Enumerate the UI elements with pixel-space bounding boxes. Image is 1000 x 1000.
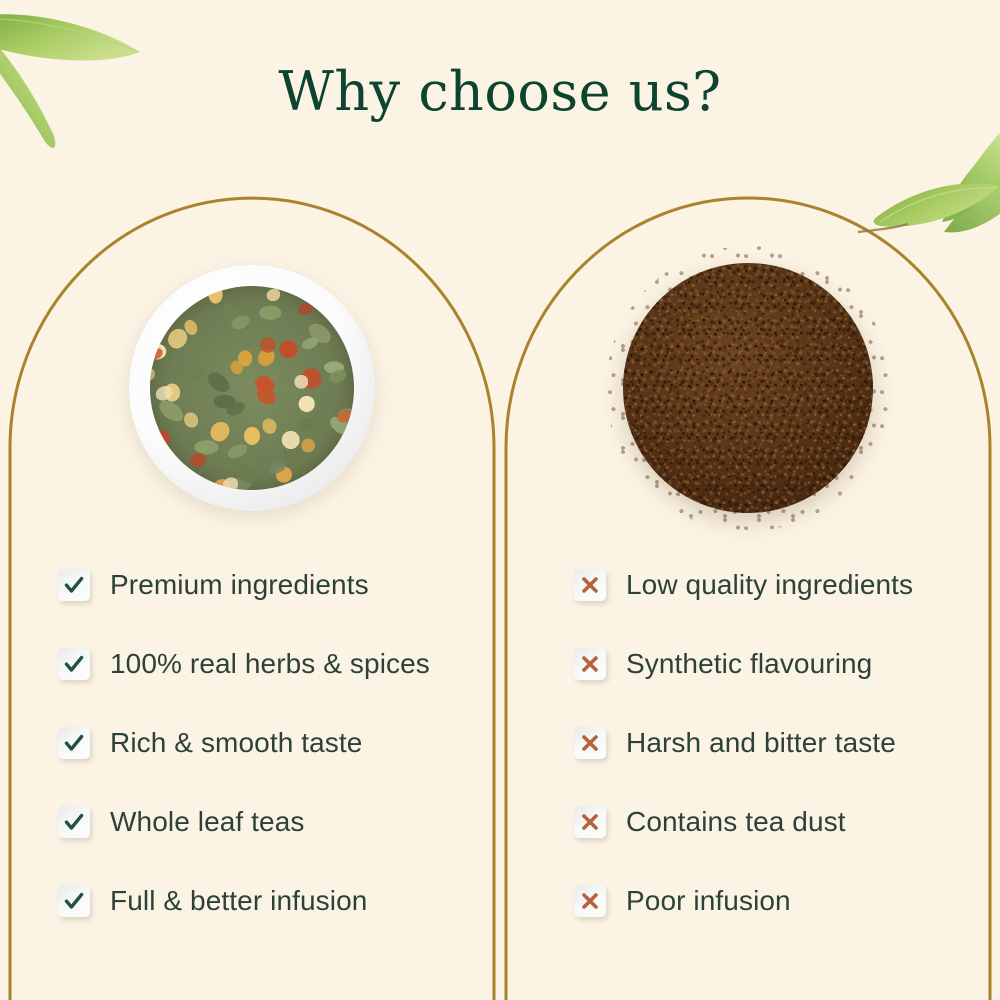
page-title: Why choose us? — [0, 60, 1000, 123]
cross-icon — [574, 806, 606, 838]
list-item-label: Harsh and bitter taste — [626, 727, 896, 759]
check-icon — [58, 648, 90, 680]
cross-icon — [574, 648, 606, 680]
list-item: Contains tea dust — [506, 782, 990, 861]
list-item: Synthetic flavouring — [506, 624, 990, 703]
pros-image — [10, 255, 494, 545]
cons-image — [506, 255, 990, 545]
cross-icon — [574, 569, 606, 601]
why-choose-us-panel: Why choose us? — [0, 0, 1000, 1000]
check-icon — [58, 569, 90, 601]
list-item-label: Synthetic flavouring — [626, 648, 872, 680]
tea-dust-pile-image — [623, 263, 873, 513]
list-item: 100% real herbs & spices — [10, 624, 494, 703]
list-item: Low quality ingredients — [506, 545, 990, 624]
list-item-label: Whole leaf teas — [110, 806, 305, 838]
list-item: Whole leaf teas — [10, 782, 494, 861]
list-item: Rich & smooth taste — [10, 703, 494, 782]
check-icon — [58, 885, 90, 917]
list-item-label: Poor infusion — [626, 885, 791, 917]
column-pros: Premium ingredients 100% real herbs & sp… — [10, 200, 494, 1000]
list-item: Poor infusion — [506, 861, 990, 940]
list-item: Full & better infusion — [10, 861, 494, 940]
cross-icon — [574, 885, 606, 917]
herbal-tea-bowl-image — [129, 265, 375, 511]
list-item: Premium ingredients — [10, 545, 494, 624]
cons-list: Low quality ingredients Synthetic flavou… — [506, 545, 990, 940]
check-icon — [58, 727, 90, 759]
bowl-contents — [150, 286, 354, 490]
pros-list: Premium ingredients 100% real herbs & sp… — [10, 545, 494, 940]
list-item-label: Rich & smooth taste — [110, 727, 362, 759]
list-item: Harsh and bitter taste — [506, 703, 990, 782]
column-cons: Low quality ingredients Synthetic flavou… — [506, 200, 990, 1000]
list-item-label: Full & better infusion — [110, 885, 367, 917]
check-icon — [58, 806, 90, 838]
list-item-label: Contains tea dust — [626, 806, 846, 838]
cross-icon — [574, 727, 606, 759]
tea-dust-scatter — [606, 246, 891, 531]
list-item-label: Premium ingredients — [110, 569, 369, 601]
herb-texture-c — [150, 286, 354, 490]
list-item-label: 100% real herbs & spices — [110, 648, 430, 680]
list-item-label: Low quality ingredients — [626, 569, 913, 601]
